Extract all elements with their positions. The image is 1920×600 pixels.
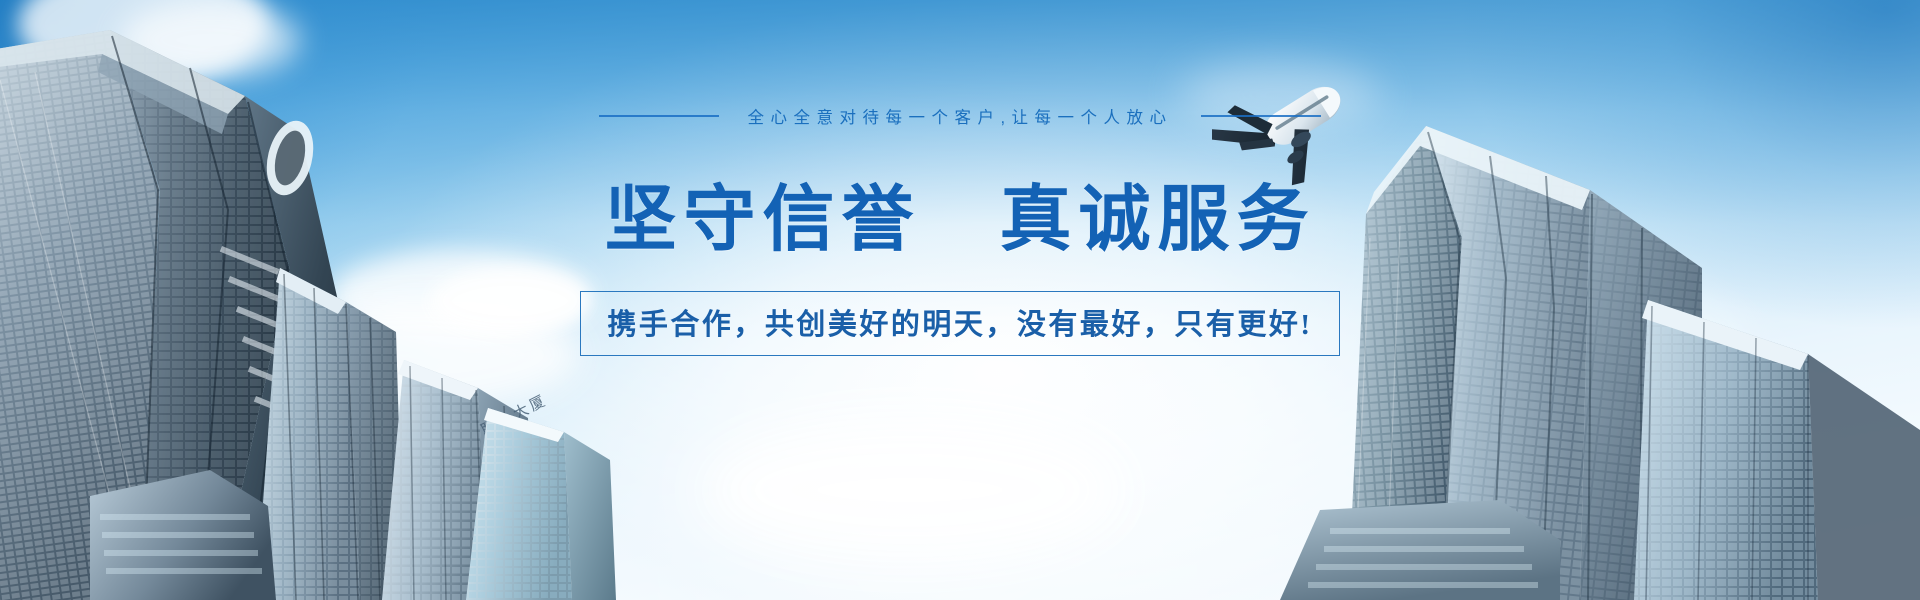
- banner-tagline: 全心全意对待每一个客户,让每一个人放心: [747, 104, 1172, 128]
- decorative-rule-left-icon: [599, 115, 719, 117]
- tagline-row: 全心全意对待每一个客户,让每一个人放心: [599, 104, 1320, 128]
- banner-content: 全心全意对待每一个客户,让每一个人放心 坚守信誉 真诚服务 携手合作，共创美好的…: [0, 0, 1920, 600]
- banner-subtitle-box: 携手合作，共创美好的明天，没有最好，只有更好!: [580, 291, 1339, 356]
- hero-banner: 联合大厦: [0, 0, 1920, 600]
- banner-subtitle: 携手合作，共创美好的明天，没有最好，只有更好!: [607, 301, 1312, 343]
- banner-headline: 坚守信誉 真诚服务: [604, 160, 1315, 265]
- decorative-rule-right-icon: [1201, 115, 1321, 117]
